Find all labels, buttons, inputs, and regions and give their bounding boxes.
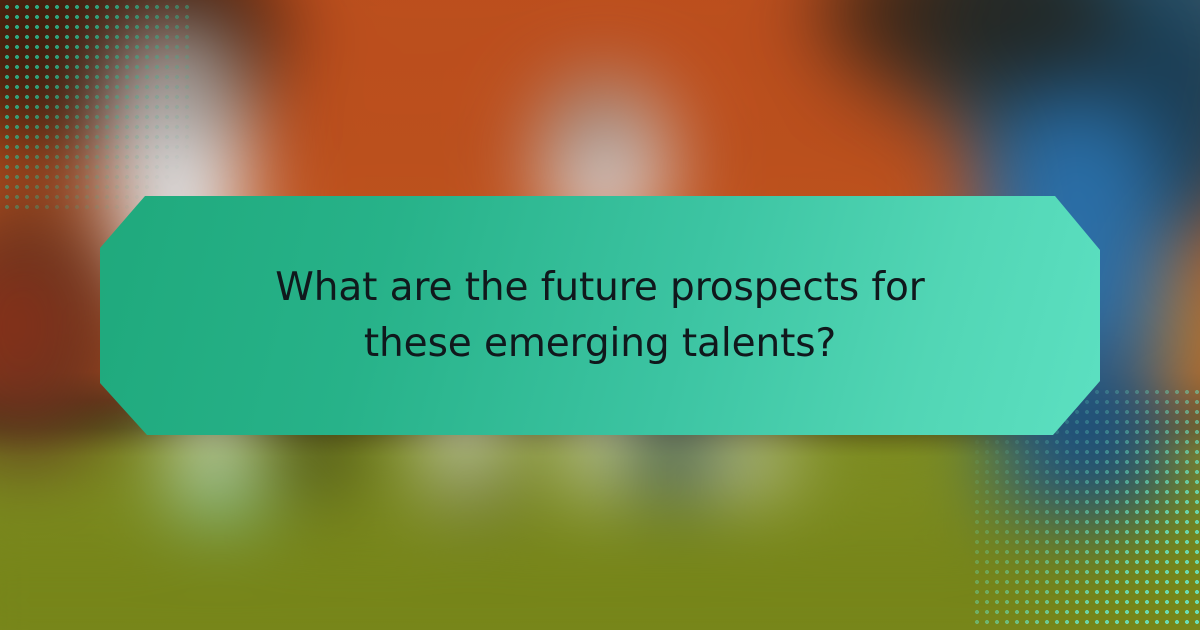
quote-text: What are the future prospects for these … — [230, 260, 970, 372]
ball-shadow — [686, 452, 732, 492]
quote-card-graphic: What are the future prospects for these … — [0, 0, 1200, 630]
boot-dark-center — [450, 480, 508, 518]
pitch-shade-bottom — [0, 520, 1200, 630]
player-head-dark — [155, 65, 215, 125]
player-head-center — [570, 100, 625, 155]
soccer-ball — [722, 430, 784, 492]
quote-card: What are the future prospects for these … — [100, 196, 1100, 435]
